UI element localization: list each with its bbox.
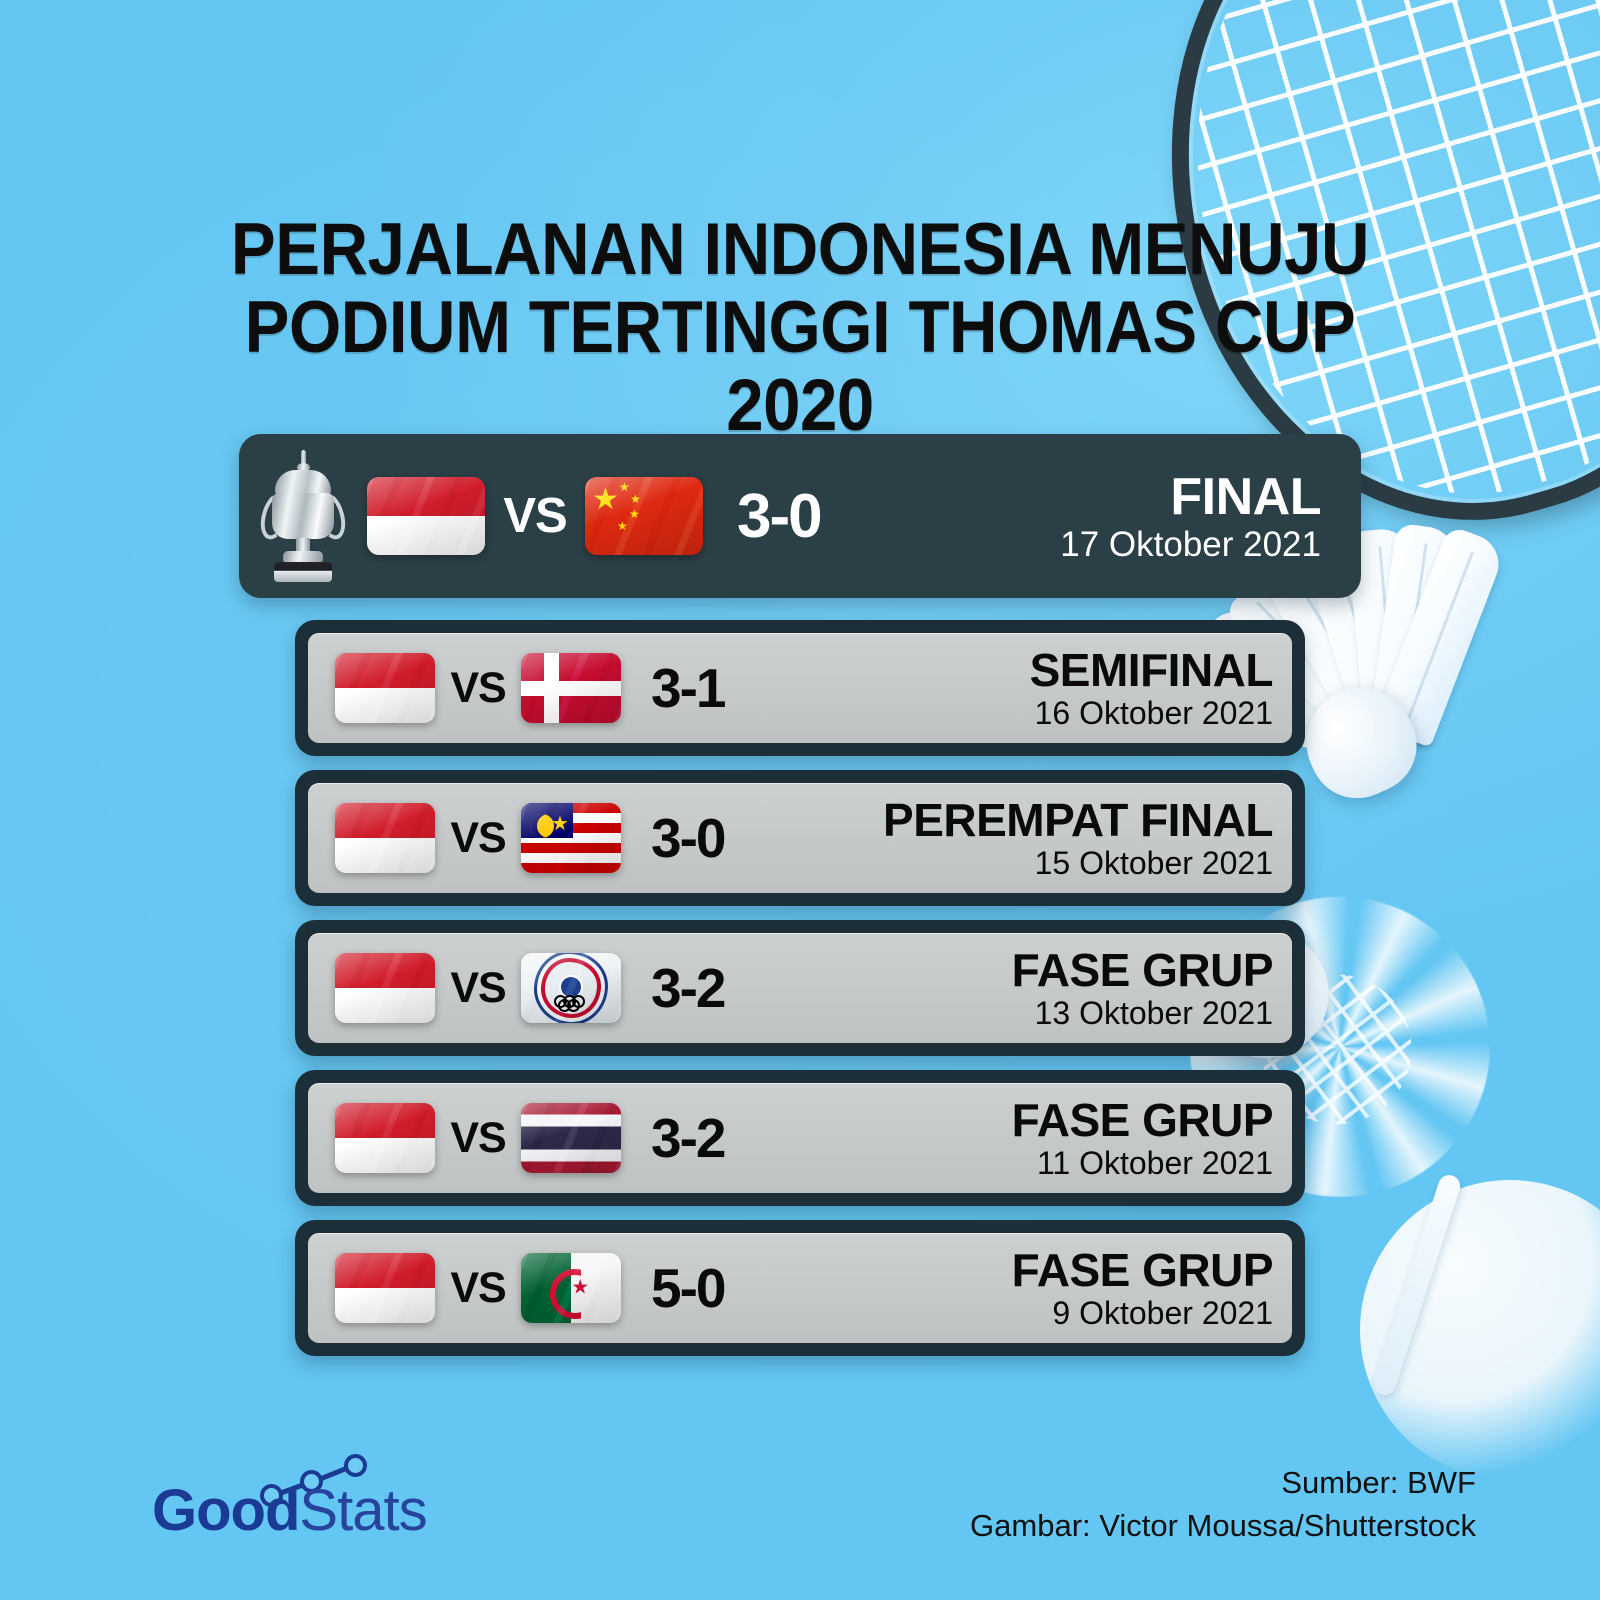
flag-indonesia-icon xyxy=(335,953,435,1023)
match-row-semifinal[interactable]: VS 3-1 SEMIFINAL 16 Oktober 2021 xyxy=(295,620,1305,756)
match-row-group-algeria[interactable]: VS ★ 5-0 FASE GRUP 9 Oktober 2021 xyxy=(295,1220,1305,1356)
match-score: 3-2 xyxy=(651,956,725,1020)
match-date: 17 Oktober 2021 xyxy=(1060,527,1321,562)
trophy-slot xyxy=(239,450,367,582)
flag-thailand-icon xyxy=(521,1103,621,1173)
vs-label: VS xyxy=(435,1264,521,1313)
flag-malaysia-icon: ★ xyxy=(521,803,621,873)
credit-image: Gambar: Victor Moussa/Shutterstock xyxy=(970,1505,1476,1548)
content-layer: PERJALANAN INDONESIA MENUJU PODIUM TERTI… xyxy=(0,0,1600,1600)
vs-label: VS xyxy=(435,814,521,863)
match-meta: FASE GRUP 13 Oktober 2021 xyxy=(1012,947,1279,1029)
flag-indonesia-icon xyxy=(335,653,435,723)
match-row-group-taipei[interactable]: VS 3-2 FASE GRUP 13 Oktober 2021 xyxy=(295,920,1305,1056)
flag-indonesia-icon xyxy=(367,477,485,555)
match-score: 3-0 xyxy=(651,806,725,870)
match-date: 13 Oktober 2021 xyxy=(1012,997,1273,1029)
vs-label: VS xyxy=(435,1114,521,1163)
match-meta: FASE GRUP 9 Oktober 2021 xyxy=(1012,1247,1279,1329)
logo-good: Good xyxy=(152,1478,299,1543)
logo-wordmark: GoodStats xyxy=(152,1482,427,1540)
match-stage-label: FINAL xyxy=(1060,471,1321,523)
match-list: VS ★★★ ★★ 3-0 FINAL 17 Oktober 2021 xyxy=(0,434,1600,1370)
match-score: 3-2 xyxy=(651,1106,725,1170)
title-line-1: PERJALANAN INDONESIA MENUJU xyxy=(231,209,1369,290)
vs-label: VS xyxy=(435,664,521,713)
match-score: 3-0 xyxy=(737,481,821,552)
credit-source: Sumber: BWF xyxy=(970,1462,1476,1505)
match-date: 9 Oktober 2021 xyxy=(1012,1297,1273,1329)
match-meta: FINAL 17 Oktober 2021 xyxy=(1060,471,1327,562)
flag-indonesia-icon xyxy=(335,1253,435,1323)
match-meta: PEREMPAT FINAL 15 Oktober 2021 xyxy=(883,797,1279,879)
credits-block: Sumber: BWF Gambar: Victor Moussa/Shutte… xyxy=(970,1462,1476,1548)
match-stage-label: FASE GRUP xyxy=(1012,1097,1273,1143)
match-stage-label: PEREMPAT FINAL xyxy=(883,797,1273,843)
match-meta: SEMIFINAL 16 Oktober 2021 xyxy=(1030,647,1279,729)
match-stage-label: SEMIFINAL xyxy=(1030,647,1273,693)
match-meta: FASE GRUP 11 Oktober 2021 xyxy=(1012,1097,1279,1179)
match-stage-label: FASE GRUP xyxy=(1012,1247,1273,1293)
vs-label: VS xyxy=(485,488,585,544)
thomas-cup-trophy-icon xyxy=(264,450,342,582)
flag-indonesia-icon xyxy=(335,1103,435,1173)
match-row-group-thailand[interactable]: VS 3-2 FASE GRUP 11 Oktober 2021 xyxy=(295,1070,1305,1206)
match-row-final[interactable]: VS ★★★ ★★ 3-0 FINAL 17 Oktober 2021 xyxy=(239,434,1361,598)
match-date: 11 Oktober 2021 xyxy=(1012,1147,1273,1179)
match-score: 5-0 xyxy=(651,1256,725,1320)
infographic-canvas: PERJALANAN INDONESIA MENUJU PODIUM TERTI… xyxy=(0,0,1600,1600)
flag-china-icon: ★★★ ★★ xyxy=(585,477,703,555)
vs-label: VS xyxy=(435,964,521,1013)
flag-chinese-taipei-icon xyxy=(521,953,621,1023)
match-date: 16 Oktober 2021 xyxy=(1030,697,1273,729)
match-date: 15 Oktober 2021 xyxy=(883,847,1273,879)
flag-denmark-icon xyxy=(521,653,621,723)
goodstats-logo[interactable]: GoodStats xyxy=(152,1452,492,1544)
flag-algeria-icon: ★ xyxy=(521,1253,621,1323)
logo-stats: Stats xyxy=(299,1478,426,1543)
match-row-quarterfinal[interactable]: VS ★ 3-0 PEREMPAT FINAL 15 Oktober 2021 xyxy=(295,770,1305,906)
match-score: 3-1 xyxy=(651,656,725,720)
page-title: PERJALANAN INDONESIA MENUJU PODIUM TERTI… xyxy=(64,211,1536,445)
title-line-2: PODIUM TERTINGGI THOMAS CUP 2020 xyxy=(202,289,1398,445)
match-stage-label: FASE GRUP xyxy=(1012,947,1273,993)
flag-indonesia-icon xyxy=(335,803,435,873)
